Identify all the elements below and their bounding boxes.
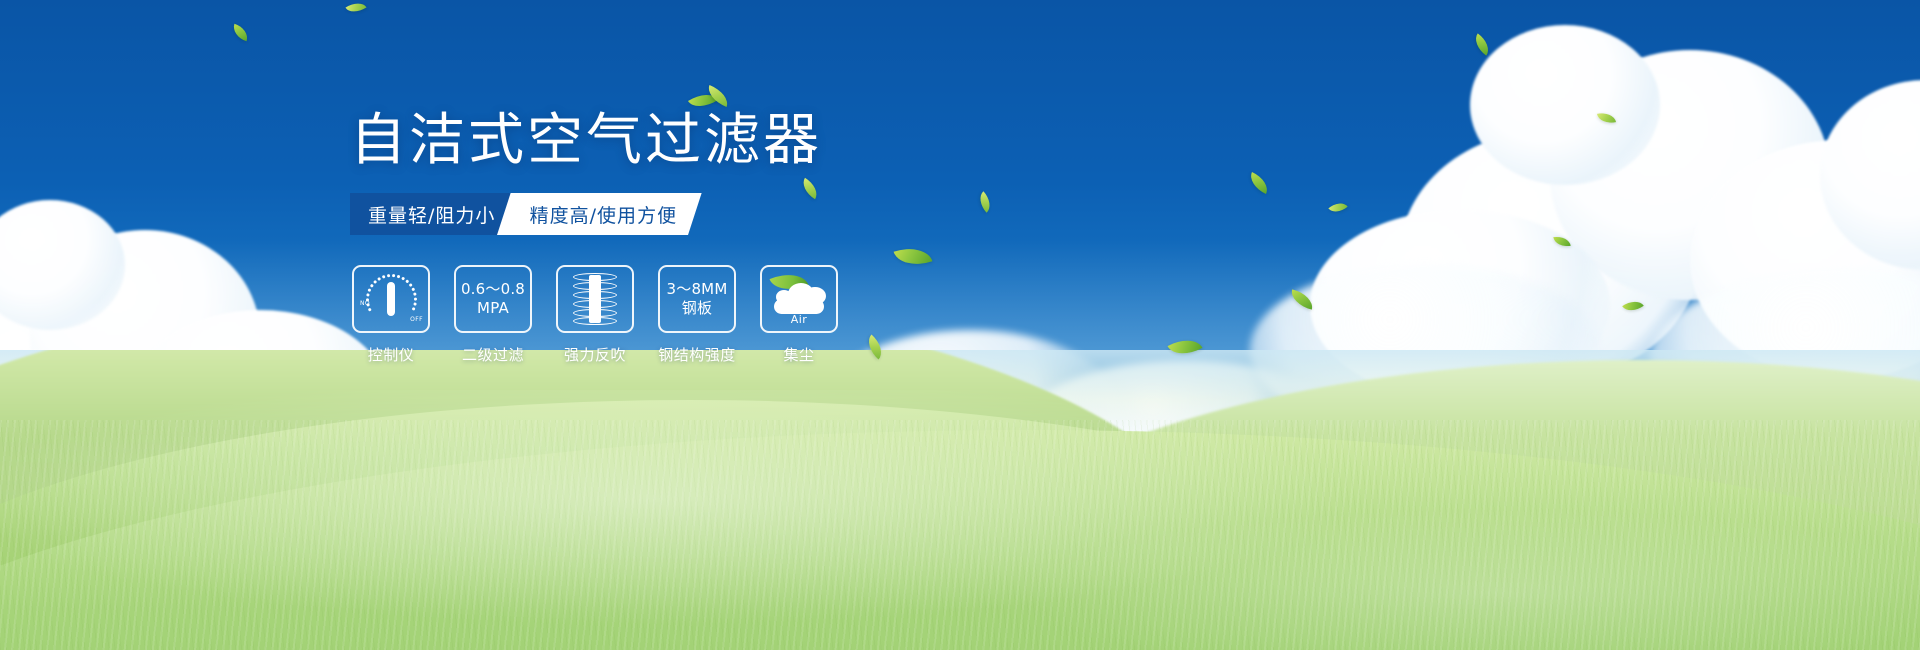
feature-box-pressure: 0.6～0.8 MPA — [454, 265, 532, 333]
feature-item-pressure: 0.6～0.8 MPA 二级过滤 — [454, 265, 532, 365]
feature-label-backblow: 强力反吹 — [564, 344, 626, 365]
feature-label-dustcollect: 集尘 — [783, 344, 814, 365]
cloud-base — [774, 299, 824, 314]
feature-tag-group: 重量轻/阻力小 精度高/使用方便 — [350, 193, 689, 235]
feature-box-dustcollect: Air — [760, 265, 838, 333]
feature-box-controller: NO OFF — [352, 265, 430, 333]
gauge-off-label: OFF — [410, 316, 423, 323]
pressure-unit-text: MPA — [477, 299, 509, 318]
feature-item-steel: 3～8MM 钢板 钢结构强度 — [658, 265, 736, 365]
tag-white-holder: 精度高/使用方便 — [497, 193, 688, 235]
tag-highprecision-label: 精度高/使用方便 — [530, 201, 677, 228]
filter-coil-icon — [573, 273, 617, 325]
feature-label-steel: 钢结构强度 — [658, 344, 736, 365]
tag-lightweight-lowresistance: 重量轻/阻力小 — [350, 193, 515, 235]
feature-label-pressure: 二级过滤 — [462, 344, 524, 365]
feature-label-controller: 控制仪 — [368, 344, 415, 365]
feature-item-dustcollect: Air 集尘 — [760, 265, 838, 365]
air-label: Air — [770, 313, 828, 326]
gauge-on-label: NO — [360, 300, 370, 307]
steel-plate-text: 钢板 — [682, 299, 712, 318]
steel-thickness-text: 3～8MM — [667, 280, 728, 299]
feature-item-controller: NO OFF 控制仪 — [352, 265, 430, 365]
banner-content: 自洁式空气过滤器 重量轻/阻力小 精度高/使用方便 — [0, 0, 1920, 650]
feature-item-backblow: 强力反吹 — [556, 265, 634, 365]
title-block: 自洁式空气过滤器 — [350, 113, 822, 169]
tag-highprecision-easyuse: 精度高/使用方便 — [497, 193, 702, 235]
hero-banner: 自洁式空气过滤器 重量轻/阻力小 精度高/使用方便 — [0, 0, 1920, 650]
pressure-range-text: 0.6～0.8 — [461, 280, 525, 299]
feature-box-backblow — [556, 265, 634, 333]
title-leaf-icon — [688, 85, 734, 115]
feature-icon-row: NO OFF 控制仪 0.6～0.8 MPA 二级过滤 — [352, 265, 838, 365]
feature-box-steel: 3～8MM 钢板 — [658, 265, 736, 333]
page-title: 自洁式空气过滤器 — [350, 113, 822, 169]
gauge-needle-icon — [387, 282, 395, 316]
air-cloud-icon: Air — [770, 275, 828, 323]
gauge-icon: NO OFF — [361, 273, 421, 325]
